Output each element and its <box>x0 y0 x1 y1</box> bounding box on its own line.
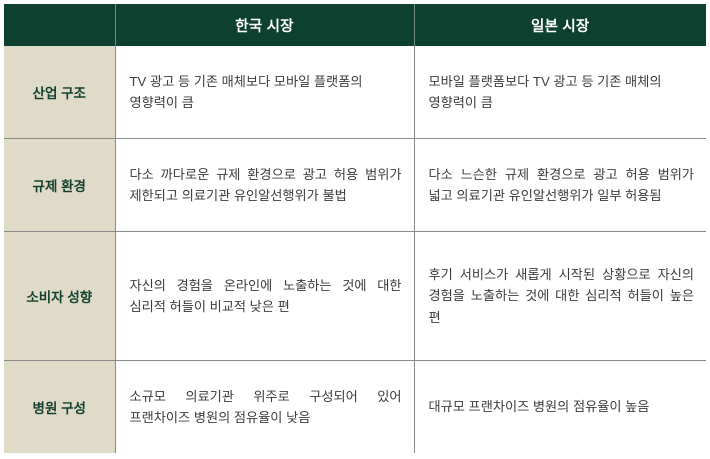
cell-korea-hospital-composition: 소규모 의료기관 위주로 구성되어 있어 프랜차이즈 병원의 점유율이 낮음 <box>115 361 414 453</box>
row-label-industry-structure: 산업 구조 <box>4 46 115 138</box>
table-row: 규제 환경 다소 까다로운 규제 환경으로 광고 허용 범위가 제한되고 의료기… <box>4 138 706 231</box>
header-row: 한국 시장 일본 시장 <box>4 4 706 46</box>
table-row: 병원 구성 소규모 의료기관 위주로 구성되어 있어 프랜차이즈 병원의 점유율… <box>4 361 706 453</box>
cell-korea-regulatory-environment: 다소 까다로운 규제 환경으로 광고 허용 범위가 제한되고 의료기관 유인알선… <box>115 138 414 231</box>
cell-japan-consumer-tendency: 후기 서비스가 새롭게 시작된 상황으로 자신의 경험을 노출하는 것에 대한 … <box>414 232 706 361</box>
row-label-regulatory-environment: 규제 환경 <box>4 138 115 231</box>
cell-korea-consumer-tendency: 자신의 경험을 온라인에 노출하는 것에 대한 심리적 허들이 비교적 낮은 편 <box>115 232 414 361</box>
table-header: 한국 시장 일본 시장 <box>4 4 706 46</box>
cell-japan-hospital-composition: 대규모 프랜차이즈 병원의 점유율이 높음 <box>414 361 706 453</box>
cell-japan-industry-structure: 모바일 플랫폼보다 TV 광고 등 기존 매체의 영향력이 큼 <box>414 46 706 138</box>
row-label-consumer-tendency: 소비자 성향 <box>4 232 115 361</box>
market-comparison-table: 한국 시장 일본 시장 산업 구조 TV 광고 등 기존 매체보다 모바일 플랫… <box>4 4 706 453</box>
cell-korea-industry-structure: TV 광고 등 기존 매체보다 모바일 플랫폼의 영향력이 큼 <box>115 46 414 138</box>
header-corner-cell <box>4 4 115 46</box>
comparison-table-container: 한국 시장 일본 시장 산업 구조 TV 광고 등 기존 매체보다 모바일 플랫… <box>0 0 710 459</box>
cell-japan-regulatory-environment: 다소 느슨한 규제 환경으로 광고 허용 범위가 넓고 의료기관 유인알선행위가… <box>414 138 706 231</box>
table-body: 산업 구조 TV 광고 등 기존 매체보다 모바일 플랫폼의 영향력이 큼 모바… <box>4 46 706 453</box>
row-label-hospital-composition: 병원 구성 <box>4 361 115 453</box>
header-japan-market: 일본 시장 <box>414 4 706 46</box>
header-korea-market: 한국 시장 <box>115 4 414 46</box>
table-row: 소비자 성향 자신의 경험을 온라인에 노출하는 것에 대한 심리적 허들이 비… <box>4 232 706 361</box>
table-row: 산업 구조 TV 광고 등 기존 매체보다 모바일 플랫폼의 영향력이 큼 모바… <box>4 46 706 138</box>
